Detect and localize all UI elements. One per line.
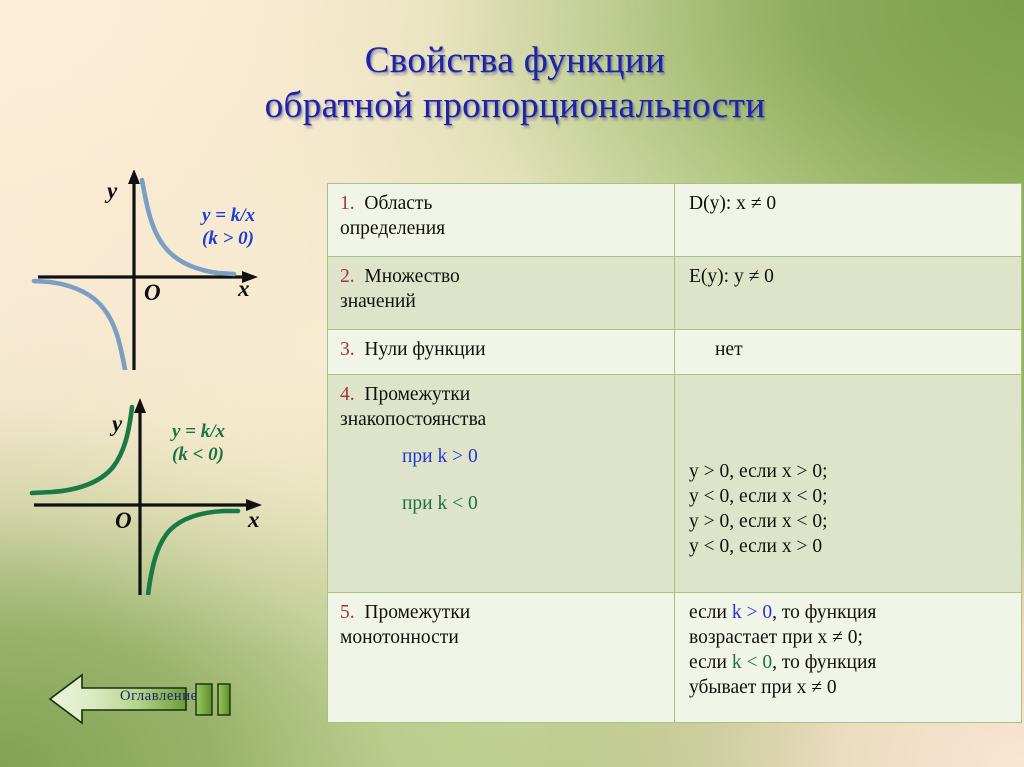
table-row: 3. Нули функции нет (328, 330, 1022, 375)
property-label-2b: значений (340, 291, 416, 312)
value-5-pos-pre: если (689, 602, 732, 623)
value-line-5-3: если k < 0, то функция (689, 650, 1011, 675)
value-line-5-1: если k > 0, то функция (689, 600, 1011, 625)
row-number-1: 1. (340, 193, 355, 214)
table-row: 5. Промежутки монотонности если k > 0, т… (328, 592, 1022, 722)
property-cell-3: 3. Нули функции (328, 330, 675, 375)
properties-table: 1. Область определения D(y): x ≠ 0 2. Мн… (327, 183, 1022, 723)
y-axis-label: y (107, 178, 117, 204)
page-title: Свойства функции обратной пропорциональн… (120, 38, 910, 128)
property-label-1b: определения (340, 218, 445, 239)
y-axis-label: y (112, 411, 122, 437)
condition-k-positive: при k > 0 (340, 432, 664, 469)
value-line-4-4: y < 0, если x > 0 (689, 534, 1011, 559)
property-label-3a: Нули функции (364, 339, 485, 360)
origin-label: O (115, 508, 132, 534)
contents-nav-label[interactable]: Оглавление (120, 688, 198, 705)
property-label-5a: Промежутки (364, 602, 470, 623)
table-row: 1. Область определения D(y): x ≠ 0 (328, 184, 1022, 257)
value-line-4-1: y > 0, если x > 0; (689, 459, 1011, 484)
value-5-neg-post: , то функция (772, 652, 876, 673)
x-axis-label: x (248, 507, 260, 533)
row-number-2: 2. (340, 266, 355, 287)
graph-condition-k-positive: (k > 0) (202, 227, 255, 250)
property-cell-1: 1. Область определения (328, 184, 675, 257)
graph-hyperbola-k-positive: y x O y = k/x (k > 0) (20, 170, 320, 370)
row-number-3: 3. (340, 339, 355, 360)
row-number-5: 5. (340, 602, 355, 623)
value-text-2: E(y): y ≠ 0 (689, 266, 774, 287)
value-text-3: нет (689, 337, 1011, 362)
value-text-1: D(y): x ≠ 0 (689, 193, 776, 214)
property-label-4b: знакопостоянства (340, 409, 486, 430)
property-label-4a: Промежутки (364, 384, 470, 405)
bar-1-icon[interactable] (196, 684, 212, 715)
value-5-pos-k: k > 0 (732, 602, 772, 623)
value-cell-5: если k > 0, то функция возрастает при x … (675, 592, 1022, 722)
slide-canvas: Свойства функции обратной пропорциональн… (0, 0, 1024, 767)
property-cell-4: 4. Промежутки знакопостоянства при k > 0… (328, 374, 675, 592)
table-row: 2. Множество значений E(y): y ≠ 0 (328, 257, 1022, 330)
graph-equation-k-negative: y = k/x (172, 420, 225, 443)
property-label-2a: Множество (364, 266, 459, 287)
value-5-neg-k: k < 0 (732, 652, 772, 673)
curve-branch-quadrant-4 (148, 511, 238, 595)
property-cell-5: 5. Промежутки монотонности (328, 592, 675, 722)
value-5-neg-pre: если (689, 652, 732, 673)
value-line-5-4: убывает при x ≠ 0 (689, 675, 1011, 700)
property-cell-2: 2. Множество значений (328, 257, 675, 330)
x-axis-label: x (238, 276, 250, 302)
property-label-1a: Область (364, 193, 432, 214)
value-line-5-2: возрастает при x ≠ 0; (689, 625, 1011, 650)
y-axis-arrowhead (134, 398, 146, 413)
contents-nav-button[interactable]: Оглавление (48, 668, 288, 730)
value-cell-2: E(y): y ≠ 0 (675, 257, 1022, 330)
graph-label-k-positive: y = k/x (k > 0) (202, 204, 255, 250)
row-number-4: 4. (340, 384, 355, 405)
origin-label: O (144, 280, 161, 306)
curve-branch-quadrant-3 (34, 281, 126, 370)
value-line-4-2: y < 0, если x < 0; (689, 484, 1011, 509)
value-cell-3: нет (675, 330, 1022, 375)
value-cell-1: D(y): x ≠ 0 (675, 184, 1022, 257)
graph-svg-k-positive (20, 170, 320, 370)
bar-2-icon[interactable] (218, 684, 230, 715)
value-5-pos-post: , то функция (772, 602, 876, 623)
value-line-4-3: y > 0, если x < 0; (689, 509, 1011, 534)
page-title-line-1: Свойства функции (120, 38, 910, 83)
spacer (340, 469, 664, 491)
property-label-5b: монотонности (340, 627, 459, 648)
value-cell-4: y > 0, если x > 0; y < 0, если x < 0; y … (675, 374, 1022, 592)
condition-k-negative: при k < 0 (340, 491, 664, 516)
graph-condition-k-negative: (k < 0) (172, 443, 225, 466)
page-title-line-2: обратной пропорциональности (120, 83, 910, 128)
graph-svg-k-negative (20, 395, 320, 595)
y-axis-arrowhead (128, 170, 140, 184)
graph-equation-k-positive: y = k/x (202, 204, 255, 227)
table-row: 4. Промежутки знакопостоянства при k > 0… (328, 374, 1022, 592)
graph-hyperbola-k-negative: y x O y = k/x (k < 0) (20, 395, 320, 595)
graph-label-k-negative: y = k/x (k < 0) (172, 420, 225, 466)
